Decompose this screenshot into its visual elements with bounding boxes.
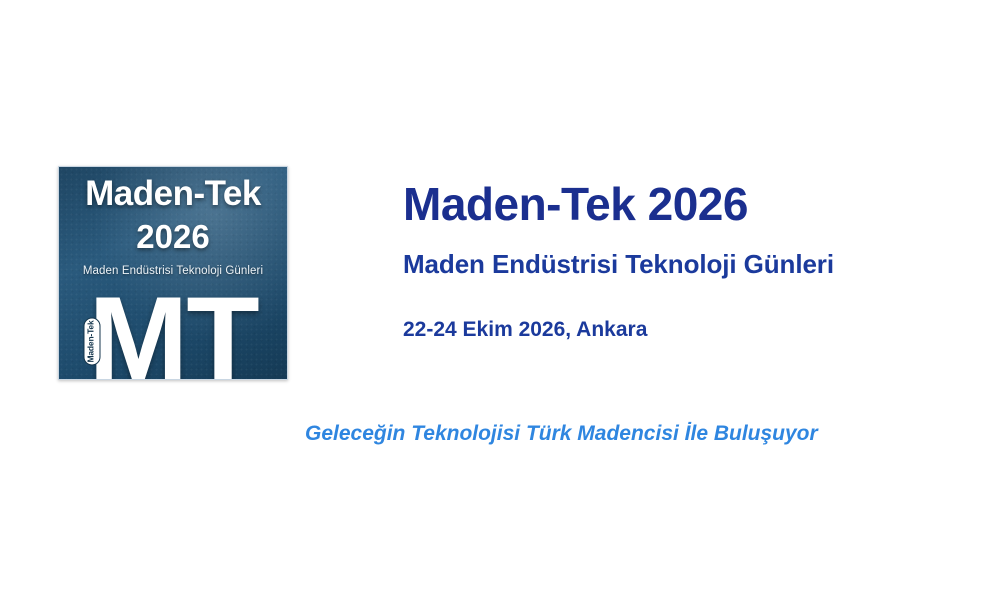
- event-logo: Maden-Tek 2026 Maden Endüstrisi Teknoloj…: [58, 166, 288, 380]
- page-title: Maden-Tek 2026: [403, 180, 748, 230]
- event-date-location: 22-24 Ekim 2026, Ankara: [403, 318, 647, 341]
- logo-seal-badge: Maden-Tek: [84, 318, 101, 366]
- logo-title: Maden-Tek: [59, 176, 287, 211]
- page-subtitle: Maden Endüstrisi Teknoloji Günleri: [403, 250, 834, 279]
- logo-content: Maden-Tek 2026 Maden Endüstrisi Teknoloj…: [59, 167, 287, 379]
- event-banner: Maden-Tek 2026 Maden Endüstrisi Teknoloj…: [0, 0, 1000, 600]
- logo-year: 2026: [59, 220, 287, 253]
- event-tagline: Geleceğin Teknolojisi Türk Madencisi İle…: [305, 422, 818, 445]
